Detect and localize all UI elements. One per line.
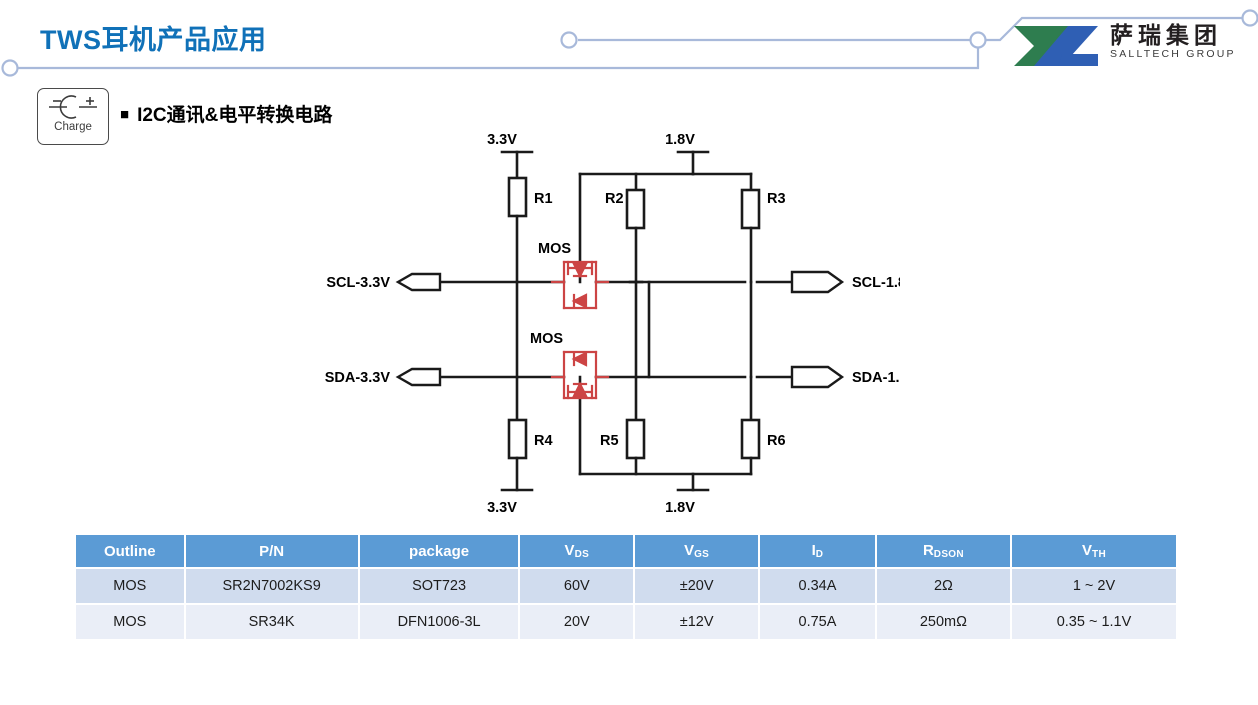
resistor-label-r3: R3 [767, 191, 786, 207]
port-label-sda-3v3: SDA-3.3V [325, 370, 391, 386]
resistor-label-r4: R4 [534, 433, 553, 449]
cell-pn: SR2N7002KS9 [186, 569, 358, 603]
rail-label-1v8-bottom: 1.8V [665, 500, 695, 516]
cell-id: 0.34A [760, 569, 875, 603]
logo-text-en: SALLTECH GROUP [1110, 48, 1250, 61]
section-bullet-icon: ■ [120, 106, 129, 123]
table-row: MOS SR2N7002KS9 SOT723 60V ±20V 0.34A 2Ω… [76, 569, 1176, 603]
table-header-id: ID [760, 535, 875, 567]
port-right-sda [792, 367, 842, 387]
cell-vth: 0.35 ~ 1.1V [1012, 605, 1176, 639]
cell-outline: MOS [76, 569, 184, 603]
deco-circle-middle [562, 33, 577, 48]
cell-rdson: 250mΩ [877, 605, 1010, 639]
slide-header: TWS耳机产品应用 萨瑞集团 SALLTECH GROUP [0, 0, 1258, 90]
port-right-scl [792, 272, 842, 292]
cell-pn: SR34K [186, 605, 358, 639]
cell-rdson: 2Ω [877, 569, 1010, 603]
cell-vth: 1 ~ 2V [1012, 569, 1176, 603]
cell-vds: 20V [520, 605, 633, 639]
charge-icon-label: Charge [38, 121, 108, 133]
port-label-scl-3v3: SCL-3.3V [326, 275, 390, 291]
circuit-schematic: 3.3V 1.8V 3.3V 1.8V R1 R2 R3 R4 R5 R6 MO… [280, 130, 900, 520]
port-label-sda-1v8: SDA-1.8V [852, 370, 900, 386]
mosfet-symbol-scl [552, 262, 608, 308]
cell-package: DFN1006-3L [360, 605, 519, 639]
rail-label-3v3-top: 3.3V [487, 132, 517, 148]
charge-icon-card: Charge [37, 88, 109, 145]
mosfet-label-scl: MOS [538, 241, 571, 257]
table-header-outline: Outline [76, 535, 184, 567]
charge-battery-icon [43, 93, 103, 121]
spec-table: Outline P/N package VDS VGS ID RDSON VTH… [74, 533, 1178, 641]
logo-text-cn: 萨瑞集团 [1110, 22, 1250, 48]
mosfet-label-sda: MOS [530, 331, 563, 347]
rail-label-1v8-top: 1.8V [665, 132, 695, 148]
table-row: MOS SR34K DFN1006-3L 20V ±12V 0.75A 250m… [76, 605, 1176, 639]
company-logo: 萨瑞集团 SALLTECH GROUP [1010, 24, 1242, 70]
resistor-label-r6: R6 [767, 433, 786, 449]
logo-text: 萨瑞集团 SALLTECH GROUP [1110, 22, 1250, 61]
resistor-label-r1: R1 [534, 191, 553, 207]
table-header-package: package [360, 535, 519, 567]
table-header-vds: VDS [520, 535, 633, 567]
port-left-scl [398, 274, 440, 290]
mosfet-symbol-sda [552, 352, 608, 398]
table-header-vgs: VGS [635, 535, 758, 567]
table-header-pn: P/N [186, 535, 358, 567]
deco-circle-left [3, 61, 18, 76]
cell-package: SOT723 [360, 569, 519, 603]
cell-id: 0.75A [760, 605, 875, 639]
cell-vds: 60V [520, 569, 633, 603]
page-title: TWS耳机产品应用 [40, 18, 267, 57]
table-header-vth: VTH [1012, 535, 1176, 567]
port-label-scl-1v8: SCL-1.8V [852, 275, 900, 291]
table-header-row: Outline P/N package VDS VGS ID RDSON VTH [76, 535, 1176, 567]
section-heading-text: I2C通讯&电平转换电路 [137, 105, 332, 126]
port-left-sda [398, 369, 440, 385]
cell-vgs: ±12V [635, 605, 758, 639]
cell-outline: MOS [76, 605, 184, 639]
rail-label-3v3-bottom: 3.3V [487, 500, 517, 516]
table-header-rdson: RDSON [877, 535, 1010, 567]
section-heading: ■I2C通讯&电平转换电路 [120, 100, 332, 127]
resistor-label-r5: R5 [600, 433, 619, 449]
logo-mark-icon [1010, 24, 1102, 68]
resistor-label-r2: R2 [605, 191, 624, 207]
deco-circle-right [971, 33, 986, 48]
cell-vgs: ±20V [635, 569, 758, 603]
